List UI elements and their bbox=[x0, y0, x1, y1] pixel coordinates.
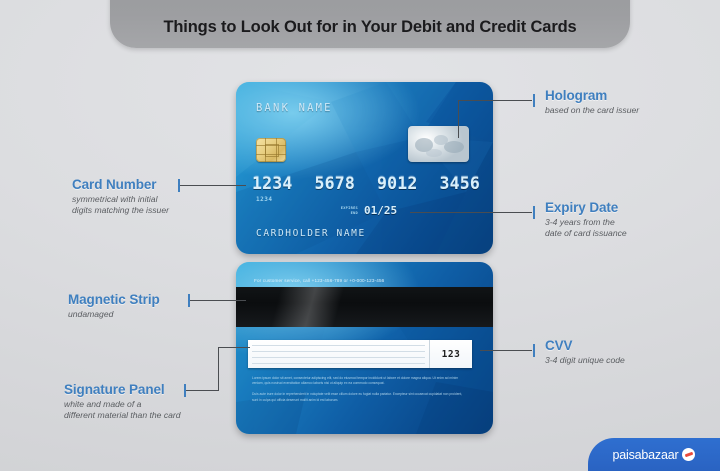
emv-chip-icon bbox=[256, 138, 286, 162]
card-number-group-3: 9012 bbox=[377, 174, 418, 193]
callout-expiry-date-description-line1: 3-4 years from the bbox=[545, 217, 627, 228]
brand-footer[interactable]: paisabazaar bbox=[588, 438, 720, 471]
hologram-pattern bbox=[408, 126, 469, 162]
callout-hologram-description: based on the card issuer bbox=[545, 105, 639, 116]
cvv-value: 123 bbox=[429, 340, 472, 368]
magnetic-stripe bbox=[236, 287, 493, 327]
card-back: For customer service, call +123-456-789 … bbox=[236, 262, 493, 434]
callout-expiry-date-description: 3-4 years from the date of card issuance bbox=[545, 217, 627, 239]
cvv-tick bbox=[533, 344, 535, 357]
signature-panel-connector-vertical bbox=[218, 347, 219, 390]
card-back-fineprint: Lorem ipsum dolor sit amet, consectetur … bbox=[252, 376, 467, 409]
callout-magnetic-strip-label: Magnetic Strip bbox=[68, 292, 160, 307]
signature-panel: 123 bbox=[248, 340, 472, 368]
page-title: Things to Look Out for in Your Debit and… bbox=[163, 18, 576, 48]
callout-expiry-date-description-line2: date of card issuance bbox=[545, 228, 627, 239]
magnetic-strip-tick bbox=[188, 294, 190, 307]
callout-cvv-label: CVV bbox=[545, 338, 625, 353]
callout-card-number-description-line2: digits matching the issuer bbox=[72, 205, 169, 216]
callout-signature-panel: Signature Panel white and made of a diff… bbox=[64, 382, 181, 421]
paisabazaar-logo-icon bbox=[682, 448, 695, 461]
callout-signature-panel-description-line1: white and made of a bbox=[64, 399, 181, 410]
hologram-tick bbox=[533, 94, 535, 107]
signature-ruled-lines bbox=[248, 340, 429, 368]
callout-magnetic-strip-description: undamaged bbox=[68, 309, 160, 320]
title-banner: Things to Look Out for in Your Debit and… bbox=[110, 0, 630, 48]
callout-magnetic-strip: Magnetic Strip undamaged bbox=[68, 292, 160, 320]
hologram-icon bbox=[408, 126, 469, 162]
hologram-connector-vertical bbox=[458, 100, 459, 138]
card-number-verification-digits: 1234 bbox=[256, 196, 272, 203]
callout-cvv-description: 3-4 digit unique code bbox=[545, 355, 625, 366]
card-number-group-2: 5678 bbox=[314, 174, 355, 193]
card-number: 1234 5678 9012 3456 bbox=[252, 174, 480, 193]
expiry-value: 01/25 bbox=[364, 204, 397, 217]
card-number-tick bbox=[178, 179, 180, 192]
magnetic-strip-connector bbox=[190, 300, 246, 301]
card-number-group-4: 3456 bbox=[439, 174, 480, 193]
callout-signature-panel-description-line2: different material than the card bbox=[64, 410, 181, 421]
infographic-canvas: Things to Look Out for in Your Debit and… bbox=[0, 0, 720, 471]
brand-name: paisabazaar bbox=[613, 448, 679, 462]
signature-panel-connector-horizontal bbox=[218, 347, 250, 348]
customer-service-line: For customer service, call +123-456-789 … bbox=[236, 274, 493, 286]
callout-expiry-date-label: Expiry Date bbox=[545, 200, 627, 215]
hologram-connector-horizontal bbox=[458, 100, 532, 101]
callout-card-number-description: symmetrical with initial digits matching… bbox=[72, 194, 169, 216]
callout-hologram: Hologram based on the card issuer bbox=[545, 88, 639, 116]
callout-signature-panel-description: white and made of a different material t… bbox=[64, 399, 181, 421]
callout-expiry-date: Expiry Date 3-4 years from the date of c… bbox=[545, 200, 627, 239]
expires-label: EXPIRES END bbox=[332, 206, 358, 215]
callout-signature-panel-label: Signature Panel bbox=[64, 382, 181, 397]
expiry-tick bbox=[533, 206, 535, 219]
callout-card-number: Card Number symmetrical with initial dig… bbox=[72, 177, 169, 216]
fineprint-paragraph-1: Lorem ipsum dolor sit amet, consectetur … bbox=[252, 376, 467, 386]
cardholder-name: CARDHOLDER NAME bbox=[256, 228, 366, 239]
expires-label-line2: END bbox=[332, 211, 358, 216]
magnetic-stripe-gloss bbox=[236, 287, 403, 327]
fineprint-paragraph-2: Duis aute irure dolor in reprehenderit i… bbox=[252, 392, 467, 402]
expiry-connector bbox=[410, 212, 532, 213]
card-number-connector bbox=[180, 185, 246, 186]
callout-cvv: CVV 3-4 digit unique code bbox=[545, 338, 625, 366]
callout-card-number-description-line1: symmetrical with initial bbox=[72, 194, 169, 205]
bank-name: BANK NAME bbox=[256, 102, 333, 114]
callout-card-number-label: Card Number bbox=[72, 177, 169, 192]
signature-panel-connector-horizontal-2 bbox=[186, 390, 219, 391]
callout-hologram-label: Hologram bbox=[545, 88, 639, 103]
signature-panel-tick bbox=[184, 384, 186, 397]
card-front: BANK NAME 1234 5678 9012 3456 1234 EXPIR… bbox=[236, 82, 493, 254]
card-number-group-1: 1234 bbox=[252, 174, 293, 193]
cvv-connector bbox=[480, 350, 532, 351]
